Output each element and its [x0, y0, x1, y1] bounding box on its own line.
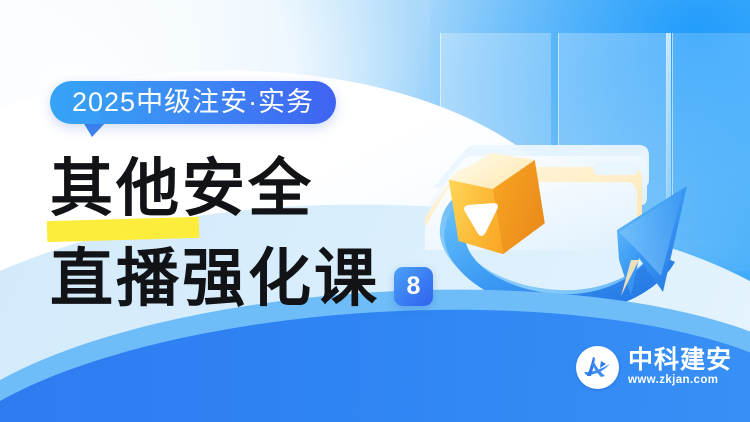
- page-title-line1: 其他安全: [50, 158, 314, 221]
- course-badge-label: 2025中级注安·实务: [72, 89, 314, 116]
- episode-number-label: 8: [407, 274, 421, 299]
- course-badge: 2025中级注安·实务: [50, 81, 336, 124]
- brand-logo: 中科建安 www.zkjan.com: [576, 346, 732, 389]
- badge-tail-icon: [83, 122, 106, 137]
- brand-text: 中科建安 www.zkjan.com: [628, 348, 732, 387]
- episode-number-badge: 8: [394, 267, 433, 306]
- brand-url: www.zkjan.com: [628, 375, 732, 387]
- brand-name: 中科建安: [628, 348, 732, 373]
- course-promo-banner: 2025中级注安·实务 其他安全 直播强化课 8 中科建安 www.zkjan.…: [0, 0, 750, 422]
- page-title-line2: 直播强化课: [50, 248, 380, 311]
- zkjan-logo-icon: [576, 346, 619, 389]
